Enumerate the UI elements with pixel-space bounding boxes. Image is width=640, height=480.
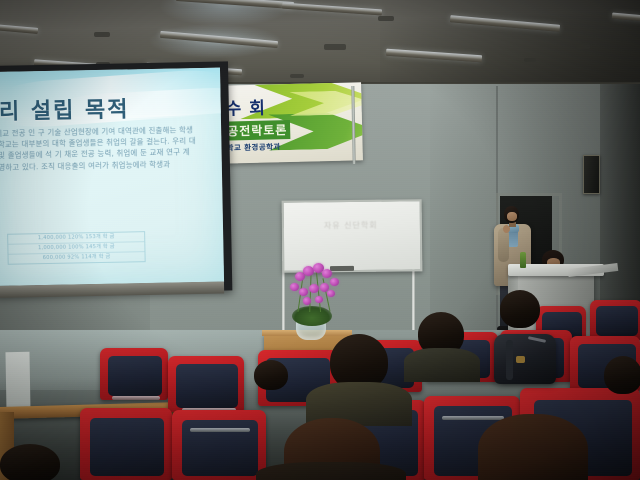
orchid-foliage (292, 306, 332, 326)
ceiling-vent-3 (378, 16, 394, 21)
ceiling-vent-1 (94, 32, 110, 37)
backpack-strap (506, 340, 513, 380)
audience-head (254, 360, 288, 390)
audience-head (0, 444, 60, 480)
seat-cushion (108, 356, 162, 396)
ceiling-vent-5 (290, 74, 304, 78)
ceiling-shadow (380, 0, 640, 86)
seat-cushion (90, 418, 164, 476)
seat-bar (190, 428, 250, 432)
water-bottle (520, 252, 526, 268)
banner-subtitle: 공전락토론 (224, 120, 291, 141)
slide-body-text: 학과에교 전공 인 구 기술 산업현장에 기여 대역관에 진출해는 학생 우리 … (0, 124, 214, 173)
audience-head (604, 356, 640, 394)
banner-title: 수 회 (225, 94, 266, 120)
whiteboard: 자유 신단학회 (282, 199, 423, 272)
lecture-hall-photo: 수 회 공전락토론 학교 환경공학과 아리 설립 목적 학과에교 전공 인 구 … (0, 0, 640, 480)
seat-bar (442, 416, 504, 420)
audience-head (500, 290, 540, 328)
banner-department: 학교 환경공학과 (226, 141, 280, 153)
seat-bar (112, 396, 160, 400)
slide-data-table: 1,400,000 120% 153개 학 금 1,000,000 100% 1… (7, 231, 146, 265)
backpack-buckle (516, 356, 525, 363)
ceiling-vent-7 (524, 58, 536, 62)
audience-head (478, 414, 588, 480)
ceiling-vent-4 (324, 44, 346, 50)
audience-shoulders (404, 348, 480, 382)
white-panel-left (5, 352, 30, 412)
wall-speaker (583, 155, 600, 194)
backpack (494, 334, 556, 384)
presenter-face (507, 212, 517, 221)
whiteboard-marker-tray (330, 266, 354, 271)
slide-title: 아리 설립 목적 (0, 90, 207, 126)
table-row: 600,000 92% 114개 학 금 (9, 252, 145, 264)
ceiling-vent-6 (576, 44, 590, 49)
event-banner: 수 회 공전락토론 학교 환경공학과 (215, 82, 363, 164)
audience-shoulders (256, 462, 406, 480)
presenter-arm (498, 228, 509, 262)
seat-cushion (596, 306, 638, 336)
seat-cushion (176, 364, 238, 408)
projection-screen: 아리 설립 목적 학과에교 전공 인 구 기술 산업현장에 기여 대역관에 진출… (0, 68, 224, 286)
whiteboard-writing: 자유 신단학회 (324, 219, 402, 231)
